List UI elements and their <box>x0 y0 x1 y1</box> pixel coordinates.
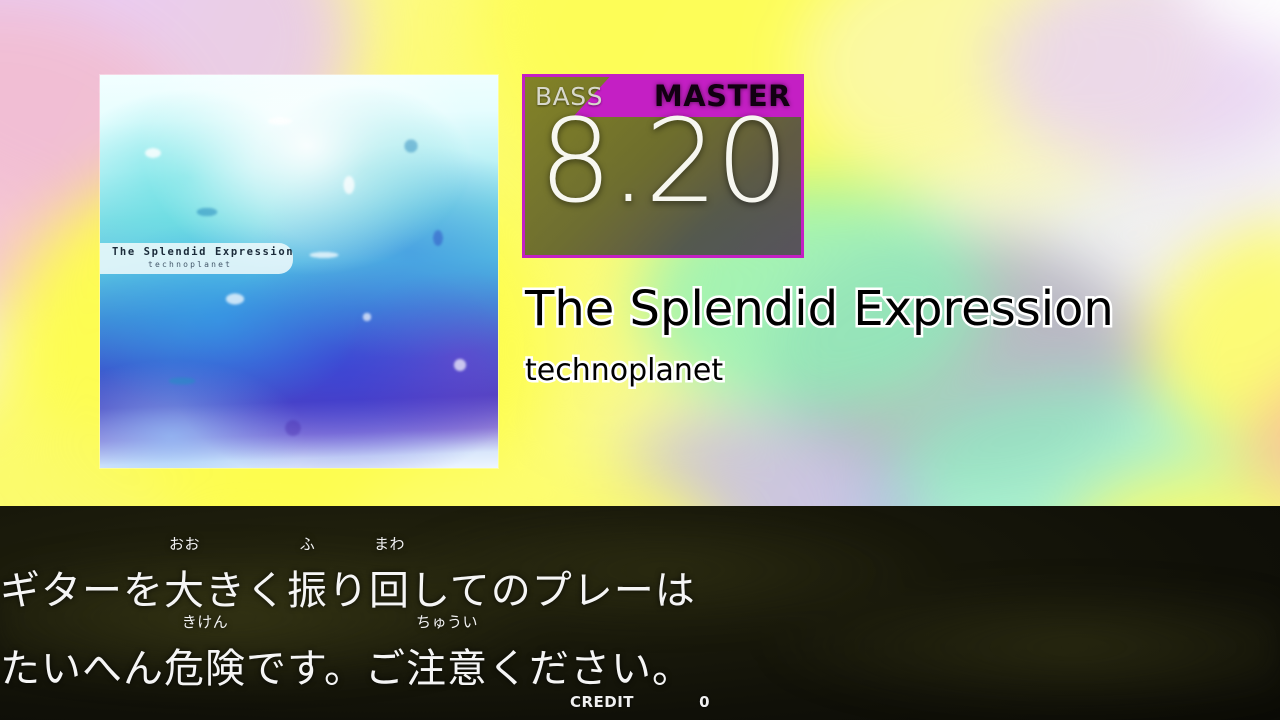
song-title: The Splendid Expression <box>525 281 1114 337</box>
ruby-group: 危険きけん <box>164 636 246 694</box>
difficulty-level-value: 8.20 <box>525 105 801 220</box>
ruby-base: 振 <box>287 568 328 614</box>
notice-text: ギターを <box>0 568 164 614</box>
ruby-text: きけん <box>182 615 229 630</box>
notice-text: してのプレーは <box>410 568 696 614</box>
jacket-label-strip: The Splendid Expression technoplanet <box>100 243 293 274</box>
ruby-text: ちゅうい <box>416 615 478 630</box>
ruby-base: 危険 <box>164 646 246 692</box>
song-artist: technoplanet <box>525 353 723 388</box>
notice-text: たいへん <box>0 646 164 692</box>
notice-line-1: ギターを大おおきく振ふり回まわしてのプレーは <box>0 558 1280 616</box>
game-screen: The Splendid Expression technoplanet BAS… <box>0 0 1280 720</box>
jacket-artist-text: technoplanet <box>148 260 232 269</box>
ruby-base: 回 <box>369 568 410 614</box>
jacket-title-text: The Splendid Expression <box>112 246 294 258</box>
ruby-group: 注意ちゅうい <box>406 636 488 694</box>
ruby-text: ふ <box>300 537 316 552</box>
notice-text: きく <box>205 568 287 614</box>
ruby-group: 大おお <box>164 558 205 616</box>
credit-label: CREDIT <box>570 693 634 711</box>
notice-line-2: たいへん危険きけんです。ご注意ちゅういください。 <box>0 636 1280 694</box>
difficulty-panel[interactable]: BASS MASTER 8.20 <box>522 74 804 258</box>
ruby-group: 回まわ <box>369 558 410 616</box>
song-artist-text: technoplanet <box>525 353 723 388</box>
song-title-text: The Splendid Expression <box>525 281 1114 337</box>
ruby-base: 大 <box>164 568 205 614</box>
ruby-base: 注意 <box>406 646 488 692</box>
credit-display: CREDIT 0 <box>0 692 1280 711</box>
ruby-group: 振ふ <box>287 558 328 616</box>
notice-text: ください。 <box>488 646 693 692</box>
notice-text: り <box>328 568 369 614</box>
credit-value: 0 <box>699 693 710 711</box>
album-jacket: The Splendid Expression technoplanet <box>100 75 498 468</box>
notice-text: です。ご <box>246 646 406 692</box>
ruby-text: まわ <box>374 537 405 552</box>
ruby-text: おお <box>169 537 200 552</box>
